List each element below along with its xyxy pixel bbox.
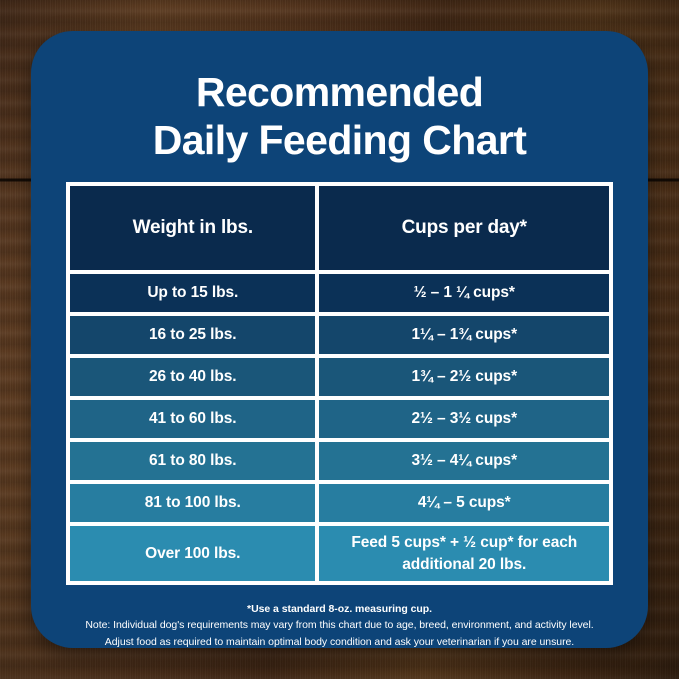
cell-weight: Over 100 lbs. [68,524,317,583]
cell-weight: 61 to 80 lbs. [68,440,317,482]
cell-weight: 26 to 40 lbs. [68,356,317,398]
cell-cups: 4¼ – 5 cups* [317,482,611,524]
table-row: Up to 15 lbs. ½ – 1 ¼ cups* [68,272,611,314]
table-row: Over 100 lbs. Feed 5 cups* + ½ cup* for … [68,524,611,583]
cell-weight: 41 to 60 lbs. [68,398,317,440]
cell-cups: 3½ – 4¼ cups* [317,440,611,482]
footnote-note: Note: Individual dog's requirements may … [53,617,626,633]
cell-weight: 16 to 25 lbs. [68,314,317,356]
feeding-table-wrapper: Weight in lbs. Cups per day* Up to 15 lb… [66,182,613,585]
table-row: 81 to 100 lbs. 4¼ – 5 cups* [68,482,611,524]
cell-weight: Up to 15 lbs. [68,272,317,314]
cell-cups: 1¼ – 1¾ cups* [317,314,611,356]
page-title: Recommended Daily Feeding Chart [31,31,648,165]
title-line-1: Recommended [59,68,620,116]
footnote-adjust: Adjust food as required to maintain opti… [53,634,626,648]
table-row: 41 to 60 lbs. 2½ – 3½ cups* [68,398,611,440]
footnotes: *Use a standard 8-oz. measuring cup. Not… [53,601,626,648]
table-row: 16 to 25 lbs. 1¼ – 1¾ cups* [68,314,611,356]
table-row: 26 to 40 lbs. 1¾ – 2½ cups* [68,356,611,398]
cell-cups: Feed 5 cups* + ½ cup* for each additiona… [317,524,611,583]
cell-weight: 81 to 100 lbs. [68,482,317,524]
title-line-2: Daily Feeding Chart [59,116,620,164]
table-header-row: Weight in lbs. Cups per day* [68,184,611,272]
column-header-weight: Weight in lbs. [68,184,317,272]
table-row: 61 to 80 lbs. 3½ – 4¼ cups* [68,440,611,482]
cell-cups: 2½ – 3½ cups* [317,398,611,440]
cell-cups-line-1: Feed 5 cups* + ½ cup* for [351,534,538,551]
column-header-cups: Cups per day* [317,184,611,272]
table-header: Weight in lbs. Cups per day* [68,184,611,272]
cell-cups: ½ – 1 ¼ cups* [317,272,611,314]
feeding-chart-card: Recommended Daily Feeding Chart Weight i… [31,31,648,648]
table-body: Up to 15 lbs. ½ – 1 ¼ cups* 16 to 25 lbs… [68,272,611,583]
feeding-table: Weight in lbs. Cups per day* Up to 15 lb… [66,182,613,585]
cell-cups: 1¾ – 2½ cups* [317,356,611,398]
footnote-measuring-cup: *Use a standard 8-oz. measuring cup. [53,601,626,617]
